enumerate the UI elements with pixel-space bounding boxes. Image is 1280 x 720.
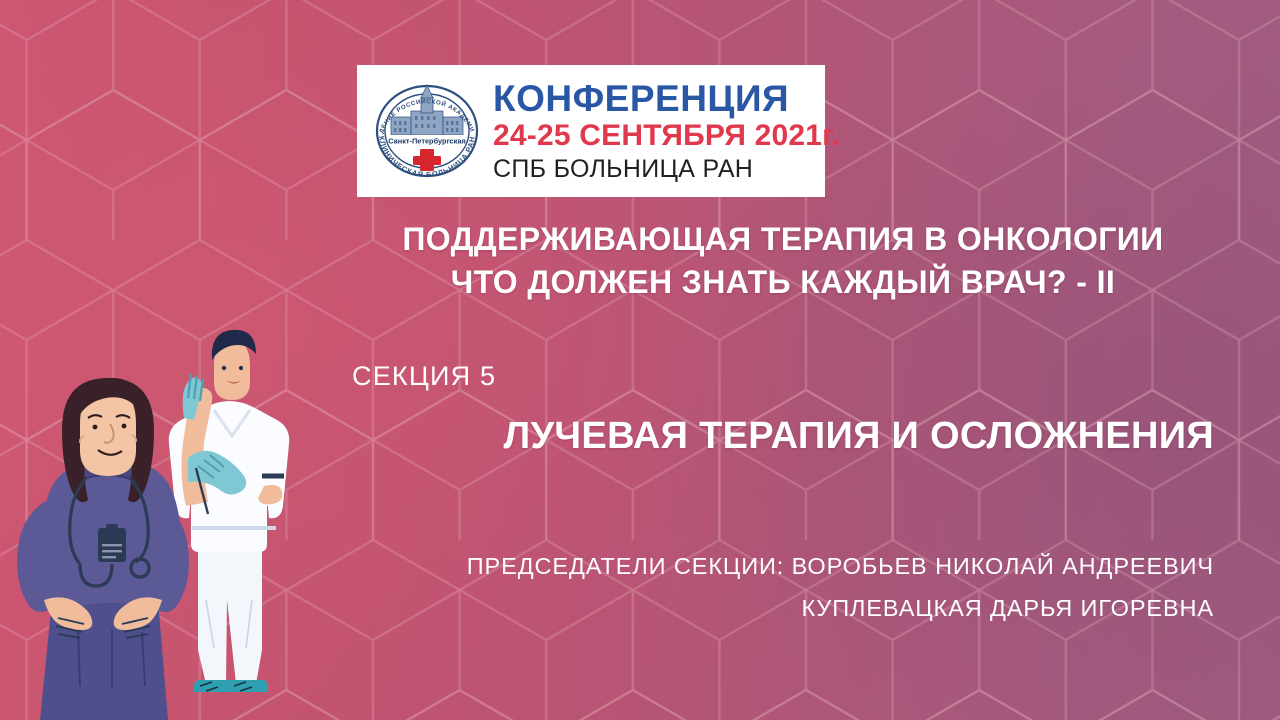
conference-venue: СПБ БОЛЬНИЦА РАН xyxy=(493,157,840,182)
chair-line-2: КУПЛЕВАЦКАЯ ДАРЬЯ ИГОРЕВНА xyxy=(352,588,1214,630)
main-title: ПОДДЕРЖИВАЮЩАЯ ТЕРАПИЯ В ОНКОЛОГИИ ЧТО Д… xyxy=(352,218,1214,304)
conference-word: КОНФЕРЕНЦИЯ xyxy=(493,80,840,117)
section-label: СЕКЦИЯ 5 xyxy=(352,361,1214,392)
logo-text-block: КОНФЕРЕНЦИЯ 24-25 СЕНТЯБРЯ 2021г. СПБ БО… xyxy=(487,80,850,182)
conference-dates: 24-25 СЕНТЯБРЯ 2021г. xyxy=(493,121,840,151)
section-title: ЛУЧЕВАЯ ТЕРАПИЯ И ОСЛОЖНЕНИЯ xyxy=(352,415,1214,458)
conference-logo-banner: Санкт-Петербургская УЧРЕЖДЕНИЕ РОССИЙСКО… xyxy=(357,65,825,197)
hospital-emblem-icon: Санкт-Петербургская УЧРЕЖДЕНИЕ РОССИЙСКО… xyxy=(367,71,487,191)
main-title-line-2: ЧТО ДОЛЖЕН ЗНАТЬ КАЖДЫЙ ВРАЧ? - II xyxy=(352,261,1214,304)
svg-text:Санкт-Петербургская: Санкт-Петербургская xyxy=(388,137,466,146)
section-chairs: ПРЕДСЕДАТЕЛИ СЕКЦИИ: ВОРОБЬЕВ НИКОЛАЙ АН… xyxy=(352,546,1214,630)
main-title-line-1: ПОДДЕРЖИВАЮЩАЯ ТЕРАПИЯ В ОНКОЛОГИИ xyxy=(352,218,1214,261)
slide-content: ПОДДЕРЖИВАЮЩАЯ ТЕРАПИЯ В ОНКОЛОГИИ ЧТО Д… xyxy=(352,218,1214,629)
chair-line-1: ПРЕДСЕДАТЕЛИ СЕКЦИИ: ВОРОБЬЕВ НИКОЛАЙ АН… xyxy=(352,546,1214,588)
conference-title-slide: Санкт-Петербургская УЧРЕЖДЕНИЕ РОССИЙСКО… xyxy=(0,0,1280,720)
